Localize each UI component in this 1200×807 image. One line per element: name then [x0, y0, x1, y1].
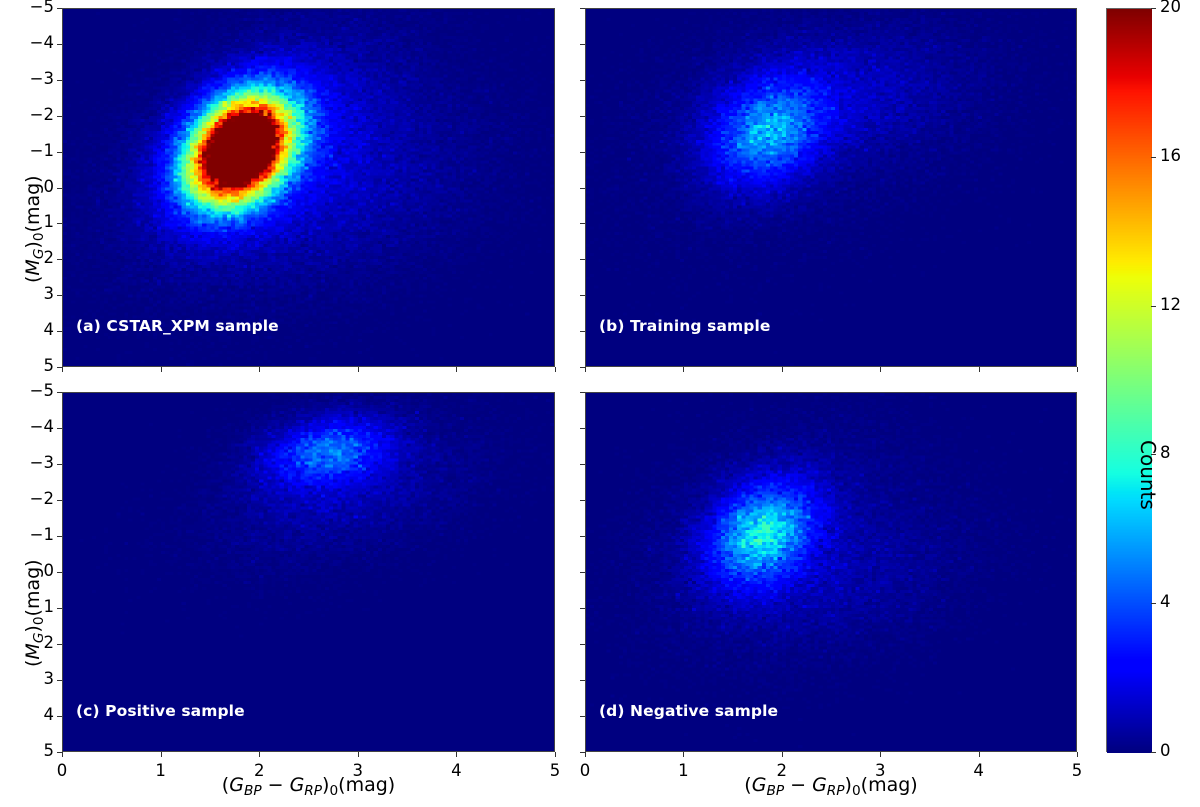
ytick-mark: [57, 428, 62, 429]
panel-c-heatmap: [62, 392, 555, 752]
xtick-mark: [62, 752, 63, 757]
xtick-label: 5: [1055, 761, 1099, 780]
xtick-mark: [782, 752, 783, 757]
xtick-label: 4: [434, 761, 478, 780]
xtick-label: 0: [40, 761, 84, 780]
ytick-mark: [580, 572, 585, 573]
xtick-mark: [880, 752, 881, 757]
ytick-mark: [57, 536, 62, 537]
y-axis-title-row-0: (MG)0(mag): [22, 175, 47, 283]
ytick-mark: [57, 295, 62, 296]
ytick-mark: [57, 80, 62, 81]
ytick-mark: [580, 644, 585, 645]
ytick-mark: [580, 680, 585, 681]
ytick-mark: [580, 223, 585, 224]
colorbar-tick-label: 8: [1160, 443, 1171, 462]
ytick-mark: [580, 8, 585, 9]
x-axis-title-left: (GBP − GRP)0(mag): [189, 774, 429, 799]
ytick-mark: [57, 716, 62, 717]
ytick-label: 3: [6, 284, 54, 303]
ytick-label: −2: [6, 105, 54, 124]
ytick-label: −5: [6, 0, 54, 16]
xtick-mark: [555, 752, 556, 757]
xtick-mark: [585, 367, 586, 372]
ytick-mark: [57, 259, 62, 260]
xtick-mark: [161, 367, 162, 372]
ytick-mark: [57, 644, 62, 645]
ytick-mark: [580, 295, 585, 296]
y-axis-title-row-1: (MG)0(mag): [22, 559, 47, 667]
xtick-mark: [683, 367, 684, 372]
xtick-mark: [161, 752, 162, 757]
panel-c-canvas: [63, 393, 554, 751]
colorbar-tick-mark: [1151, 603, 1156, 604]
ytick-mark: [580, 116, 585, 117]
ytick-label: −4: [6, 33, 54, 52]
ytick-label: −5: [6, 381, 54, 400]
ytick-mark: [57, 392, 62, 393]
ytick-label: 3: [6, 669, 54, 688]
ytick-mark: [580, 392, 585, 393]
xtick-mark: [585, 752, 586, 757]
xtick-label: 1: [661, 761, 705, 780]
ytick-mark: [57, 44, 62, 45]
ytick-mark: [580, 44, 585, 45]
panel-d-heatmap: [585, 392, 1077, 752]
ytick-mark: [57, 608, 62, 609]
xtick-mark: [979, 367, 980, 372]
xtick-mark: [456, 752, 457, 757]
xtick-mark: [782, 367, 783, 372]
colorbar-tick-label: 0: [1160, 741, 1171, 760]
ytick-mark: [580, 464, 585, 465]
x-axis-title-right: (GBP − GRP)0(mag): [711, 774, 951, 799]
panel-a-heatmap: [62, 8, 555, 367]
xtick-label: 1: [139, 761, 183, 780]
figure-canvas: (a) CSTAR_XPM sample−5−4−3−2−1012345(b) …: [0, 0, 1200, 807]
colorbar-title: Counts: [1136, 440, 1160, 510]
ytick-mark: [580, 259, 585, 260]
ytick-label: 5: [6, 356, 54, 375]
colorbar-tick-label: 20: [1160, 0, 1181, 16]
ytick-label: 5: [6, 741, 54, 760]
xtick-mark: [358, 367, 359, 372]
ytick-mark: [580, 536, 585, 537]
ytick-label: 4: [6, 320, 54, 339]
panel-b-heatmap: [585, 8, 1077, 367]
ytick-mark: [57, 8, 62, 9]
ytick-mark: [580, 716, 585, 717]
ytick-mark: [580, 608, 585, 609]
ytick-mark: [57, 116, 62, 117]
xtick-mark: [555, 367, 556, 372]
panel-a-canvas: [63, 9, 554, 366]
ytick-label: −3: [6, 453, 54, 472]
ytick-label: 4: [6, 705, 54, 724]
xtick-mark: [880, 367, 881, 372]
xtick-mark: [1077, 752, 1078, 757]
colorbar: [1106, 8, 1151, 752]
colorbar-tick-mark: [1151, 306, 1156, 307]
ytick-mark: [57, 223, 62, 224]
ytick-mark: [57, 331, 62, 332]
ytick-label: −1: [6, 141, 54, 160]
colorbar-tick-mark: [1151, 8, 1156, 9]
colorbar-tick-mark: [1151, 752, 1156, 753]
xtick-label: 4: [957, 761, 1001, 780]
xtick-mark: [259, 752, 260, 757]
xtick-mark: [1077, 367, 1078, 372]
ytick-mark: [580, 331, 585, 332]
xtick-mark: [62, 367, 63, 372]
ytick-mark: [57, 572, 62, 573]
panel-b-canvas: [586, 9, 1076, 366]
xtick-mark: [979, 752, 980, 757]
ytick-mark: [580, 80, 585, 81]
ytick-mark: [580, 188, 585, 189]
ytick-label: −2: [6, 489, 54, 508]
xtick-mark: [456, 367, 457, 372]
ytick-label: −3: [6, 69, 54, 88]
ytick-mark: [57, 188, 62, 189]
xtick-mark: [683, 752, 684, 757]
panel-d-canvas: [586, 393, 1076, 751]
colorbar-tick-label: 12: [1160, 295, 1181, 314]
colorbar-tick-label: 4: [1160, 592, 1171, 611]
xtick-label: 0: [563, 761, 607, 780]
ytick-mark: [580, 500, 585, 501]
ytick-label: −4: [6, 417, 54, 436]
ytick-mark: [57, 464, 62, 465]
ytick-mark: [57, 680, 62, 681]
ytick-label: −1: [6, 525, 54, 544]
ytick-mark: [57, 152, 62, 153]
colorbar-gradient: [1107, 9, 1152, 753]
ytick-mark: [580, 152, 585, 153]
xtick-mark: [259, 367, 260, 372]
ytick-mark: [57, 500, 62, 501]
colorbar-tick-label: 16: [1160, 146, 1181, 165]
colorbar-tick-mark: [1151, 157, 1156, 158]
xtick-mark: [358, 752, 359, 757]
ytick-mark: [580, 428, 585, 429]
